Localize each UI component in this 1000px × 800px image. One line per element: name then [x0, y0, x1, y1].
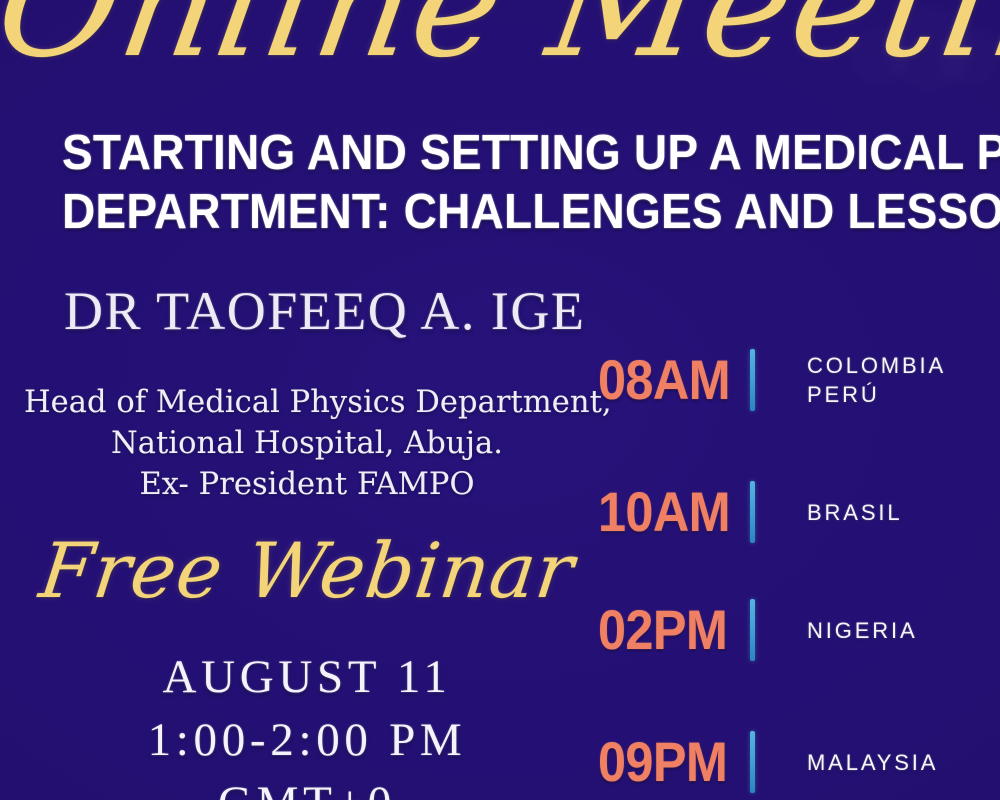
vertical-divider-icon [750, 481, 755, 543]
timezone-place: PERÚ [807, 380, 946, 409]
timezone-row: 10AM BRASIL [598, 474, 902, 550]
vertical-divider-icon [750, 599, 755, 661]
timezone-places: BRASIL [807, 498, 902, 527]
heading-line-2: DEPARTMENT: CHALLENGES AND LESSONS LEARN… [62, 183, 938, 242]
timezone-row: 02PM NIGERIA [598, 592, 917, 668]
speaker-bio-line-3: Ex- President FAMPO [24, 464, 590, 505]
timezone-place: NIGERIA [807, 616, 917, 645]
timezone-time: 02PM [598, 600, 711, 660]
timezone-time: 09PM [598, 732, 711, 792]
timezone-place: COLOMBIA [807, 351, 946, 380]
poster-heading: STARTING AND SETTING UP A MEDICAL PHYSIC… [62, 124, 938, 242]
timezone-places: COLOMBIA PERÚ [807, 351, 946, 409]
speaker-bio-line-1: Head of Medical Physics Department, [24, 382, 590, 423]
event-time-range: 1:00-2:00 PM [24, 709, 590, 772]
vertical-divider-icon [750, 731, 755, 793]
vertical-divider-icon [750, 349, 755, 411]
event-date: AUGUST 11 [24, 646, 590, 709]
free-webinar-label: Free Webinar [19, 528, 596, 614]
timezone-row: 08AM COLOMBIA PERÚ [598, 342, 946, 418]
timezone-places: MALAYSIA [807, 748, 938, 777]
timezone-place: MALAYSIA [807, 748, 938, 777]
webinar-poster: Online Meetings STARTING AND SETTING UP … [0, 0, 1000, 800]
speaker-bio: Head of Medical Physics Department, Nati… [24, 382, 590, 505]
timezone-places: NIGERIA [807, 616, 917, 645]
poster-title-script: Online Meetings [0, 0, 1000, 88]
timezone-time: 10AM [598, 482, 711, 542]
timezone-place: BRASIL [807, 498, 902, 527]
speaker-bio-line-2: National Hospital, Abuja. [24, 423, 590, 464]
timezone-time: 08AM [598, 350, 711, 410]
heading-line-1: STARTING AND SETTING UP A MEDICAL PHYSIC… [62, 124, 938, 183]
timezone-row: 09PM MALAYSIA [598, 724, 938, 800]
event-timezone: GMT+0 [24, 772, 590, 800]
event-date-block: AUGUST 11 1:00-2:00 PM GMT+0 [24, 646, 590, 800]
speaker-name: DR TAOFEEQ A. IGE [64, 280, 585, 342]
